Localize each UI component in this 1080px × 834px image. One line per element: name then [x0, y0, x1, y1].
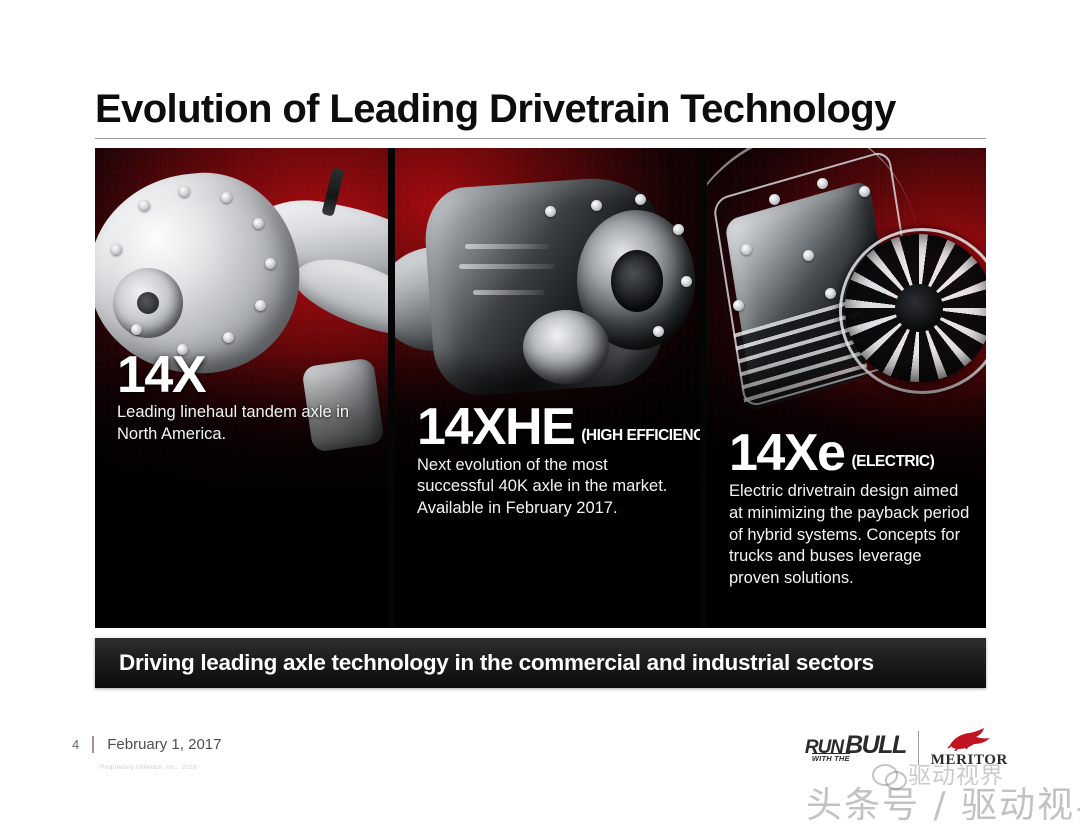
product-badge: 14XHE	[417, 404, 574, 452]
logo-bull-text: BULL	[845, 733, 906, 758]
bolt-icon	[653, 326, 664, 337]
housing-rib-icon	[459, 264, 555, 269]
footer-separator	[92, 736, 94, 753]
product-badge: 14Xe	[729, 430, 844, 478]
bolt-icon	[825, 288, 836, 299]
bolt-icon	[111, 244, 122, 255]
bull-mark-icon	[946, 727, 992, 751]
logo-with-the-text: WITH THE	[812, 753, 850, 763]
footer-date: February 1, 2017	[107, 736, 221, 753]
bolt-icon	[817, 178, 828, 189]
bolt-icon	[859, 186, 870, 197]
axle-hub-icon	[113, 268, 183, 338]
product-panel-14xe[interactable]: 14Xe (ELECTRIC) Electric drivetrain desi…	[707, 148, 986, 628]
bolt-icon	[545, 206, 556, 217]
product-panel-14x[interactable]: 14X Leading linehaul tandem axle in Nort…	[95, 148, 388, 628]
bolt-icon	[673, 224, 684, 235]
run-with-the-bull-logo: RUN BULL WITH THE	[805, 733, 906, 763]
product-panel-group: 14X Leading linehaul tandem axle in Nort…	[95, 148, 986, 628]
bolt-icon	[223, 332, 234, 343]
banner-text: Driving leading axle technology in the c…	[95, 650, 874, 676]
bolt-icon	[179, 186, 190, 197]
bolt-icon	[803, 250, 814, 261]
bolt-icon	[681, 276, 692, 287]
housing-rib-icon	[473, 290, 545, 295]
bolt-icon	[131, 324, 142, 335]
watermark-main: 头条号 / 驱动视界	[806, 776, 1080, 828]
product-badge-sub: (ELECTRIC)	[851, 453, 934, 478]
bolt-icon	[253, 218, 264, 229]
footer: 4 February 1, 2017	[72, 736, 221, 753]
panel-description: Electric drivetrain design aimed at mini…	[729, 481, 974, 590]
bolt-icon	[741, 244, 752, 255]
bolt-icon	[139, 200, 150, 211]
page-title: Evolution of Leading Drivetrain Technolo…	[95, 88, 995, 130]
bolt-icon	[221, 192, 232, 203]
bolt-icon	[733, 300, 744, 311]
key-message-banner: Driving leading axle technology in the c…	[95, 638, 986, 688]
bolt-icon	[255, 300, 266, 311]
panel-description: Next evolution of the most successful 40…	[417, 455, 688, 520]
bolt-icon	[769, 194, 780, 205]
panel-description: Leading linehaul tandem axle in North Am…	[117, 402, 376, 446]
product-badge-sub: (HIGH EFFICIENCY)	[581, 427, 700, 452]
bolt-icon	[635, 194, 646, 205]
panel-caption-14xe: 14Xe (ELECTRIC) Electric drivetrain desi…	[729, 430, 974, 590]
copyright-notice: Proprietary ©Meritor, Inc., 2016	[100, 764, 197, 771]
product-badge: 14X	[117, 352, 205, 400]
title-divider	[95, 138, 986, 139]
bolt-icon	[591, 200, 602, 211]
housing-rib-icon	[465, 244, 549, 249]
panel-caption-14xhe: 14XHE (HIGH EFFICIENCY) Next evolution o…	[417, 404, 688, 520]
panel-caption-14x: 14X Leading linehaul tandem axle in Nort…	[117, 352, 376, 446]
product-panel-14xhe[interactable]: 14XHE (HIGH EFFICIENCY) Next evolution o…	[395, 148, 700, 628]
page-number: 4	[72, 737, 79, 752]
bolt-icon	[265, 258, 276, 269]
